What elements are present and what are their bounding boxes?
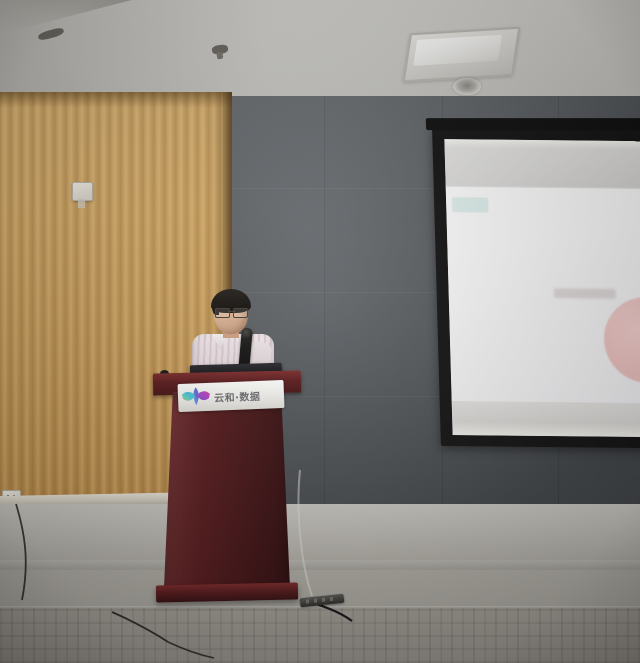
lectern-base [156, 583, 298, 603]
lectern: 云和·数据 [150, 372, 300, 620]
floor-sheen [0, 504, 640, 564]
screen-surface [444, 139, 640, 437]
screen-bottom-band [452, 401, 640, 437]
downlight-icon [453, 78, 481, 95]
slide-tag-icon [452, 197, 488, 212]
podium-brand-text: 云和·数据 [214, 387, 261, 404]
recessed-light-panel-icon [403, 27, 521, 83]
patterned-carpet-runner [0, 608, 640, 663]
lectern-body [164, 392, 290, 588]
slide-circle-graphic [603, 297, 640, 384]
floor-seam [0, 560, 640, 570]
screen-top-band [444, 139, 640, 189]
wall-sensor-icon [72, 182, 93, 201]
projection-screen [432, 126, 640, 448]
glasses-icon [215, 308, 248, 316]
projected-slide [446, 187, 640, 403]
slide-heading-blur [554, 288, 616, 299]
podium-plaque: 云和·数据 [178, 380, 285, 412]
presentation-photo: 云和·数据 [0, 0, 640, 663]
yunhe-butterfly-logo-icon [181, 385, 212, 410]
